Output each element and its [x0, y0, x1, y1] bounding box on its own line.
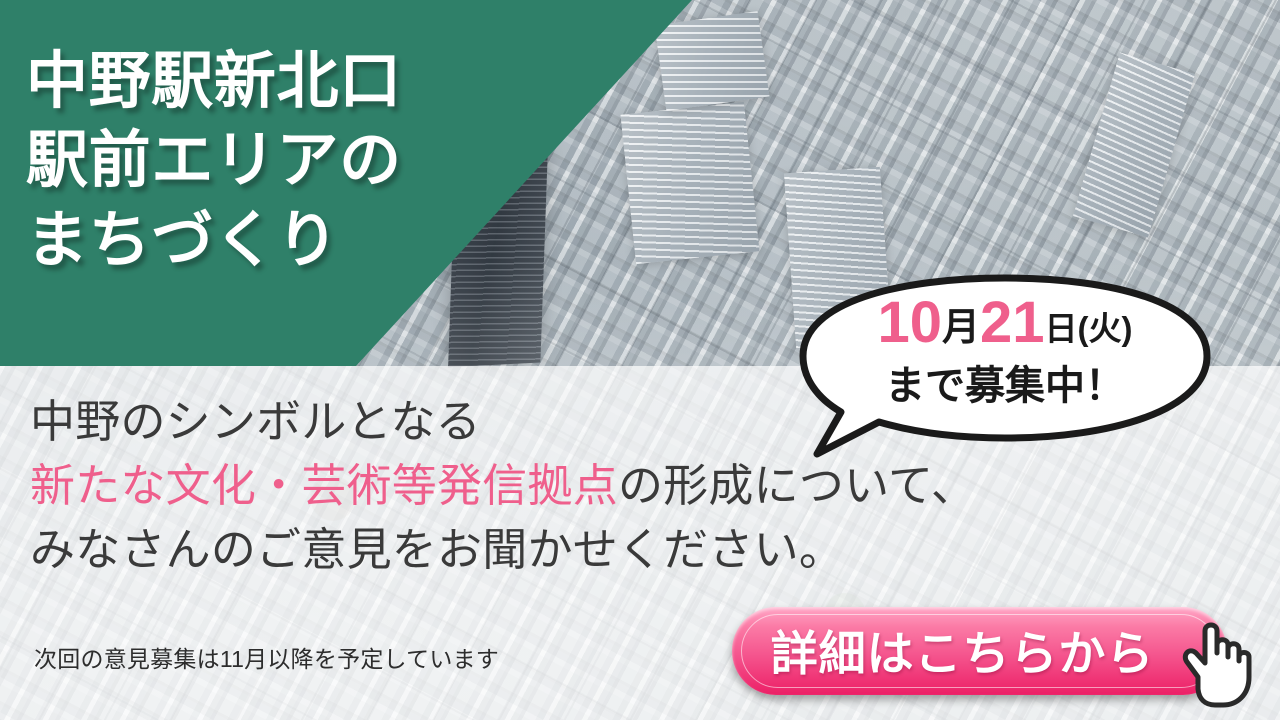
deadline-month-unit: 月 [942, 307, 980, 349]
deadline-day-number: 21 [980, 290, 1045, 355]
deadline-date-line: 10月21日(火) [795, 294, 1215, 352]
next-round-note: 次回の意見募集は11月以降を予定しています [34, 640, 499, 674]
body-line-2-highlight: 新たな文化・芸術等発信拠点 [30, 460, 618, 511]
promo-banner: 中野駅新北口 駅前エリアの まちづくり 中野のシンボルとなる 新たな文化・芸術等… [0, 0, 1280, 720]
headline-line-3: まちづくり [26, 201, 646, 280]
page-title: 中野駅新北口 駅前エリアの まちづくり [26, 42, 646, 280]
deadline-month-number: 10 [877, 290, 942, 355]
speech-bubble-text: 10月21日(火) まで募集中！ [795, 272, 1215, 408]
details-cta-button[interactable]: 詳細はこちらから [732, 607, 1227, 695]
deadline-subtext: まで募集中！ [795, 364, 1215, 408]
deadline-speech-bubble: 10月21日(火) まで募集中！ [795, 272, 1215, 462]
headline-line-1: 中野駅新北口 [26, 42, 646, 121]
headline-line-2: 駅前エリアの [26, 121, 646, 200]
body-line-2: 新たな文化・芸術等発信拠点の形成について、 [30, 454, 1040, 518]
body-line-2-rest: の形成について、 [618, 460, 976, 511]
body-line-3: みなさんのご意見をお聞かせください。 [30, 518, 1040, 582]
details-cta-label: 詳細はこちらから [732, 615, 1193, 684]
deadline-day-unit: 日(火) [1045, 310, 1133, 347]
